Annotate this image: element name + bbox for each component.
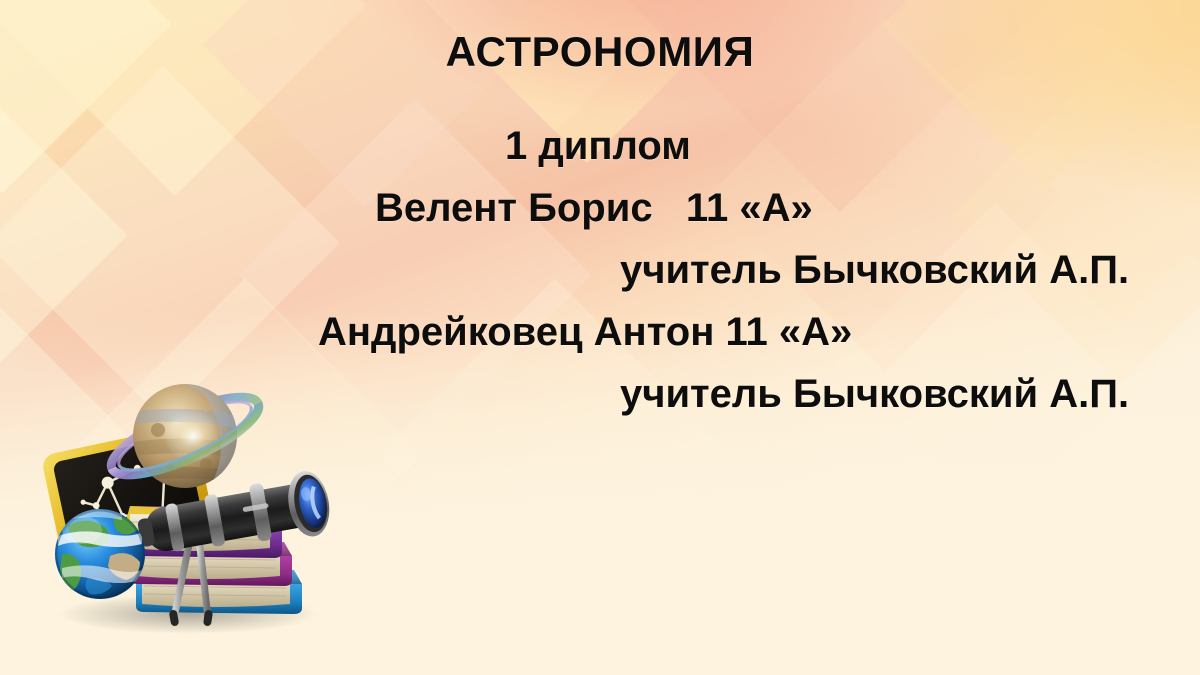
astronomy-illustration: [18, 378, 358, 650]
slide-title: АСТРОНОМИЯ: [0, 28, 1200, 76]
text-line-student-one: Велент Борис 11 «А»: [0, 180, 1200, 236]
text-line-award-count: 1 диплом: [0, 118, 1200, 174]
ringed-planet: [103, 382, 268, 489]
earth-globe: [55, 509, 145, 599]
text-line-teacher-one: учитель Бычковский А.П.: [0, 242, 1200, 298]
slide-root: АСТРОНОМИЯ 1 диплом Велент Борис 11 «А» …: [0, 0, 1200, 675]
slide-body: 1 диплом Велент Борис 11 «А» учитель Быч…: [0, 118, 1200, 422]
text-line-student-two: Андрейковец Антон 11 «А»: [0, 304, 1200, 360]
